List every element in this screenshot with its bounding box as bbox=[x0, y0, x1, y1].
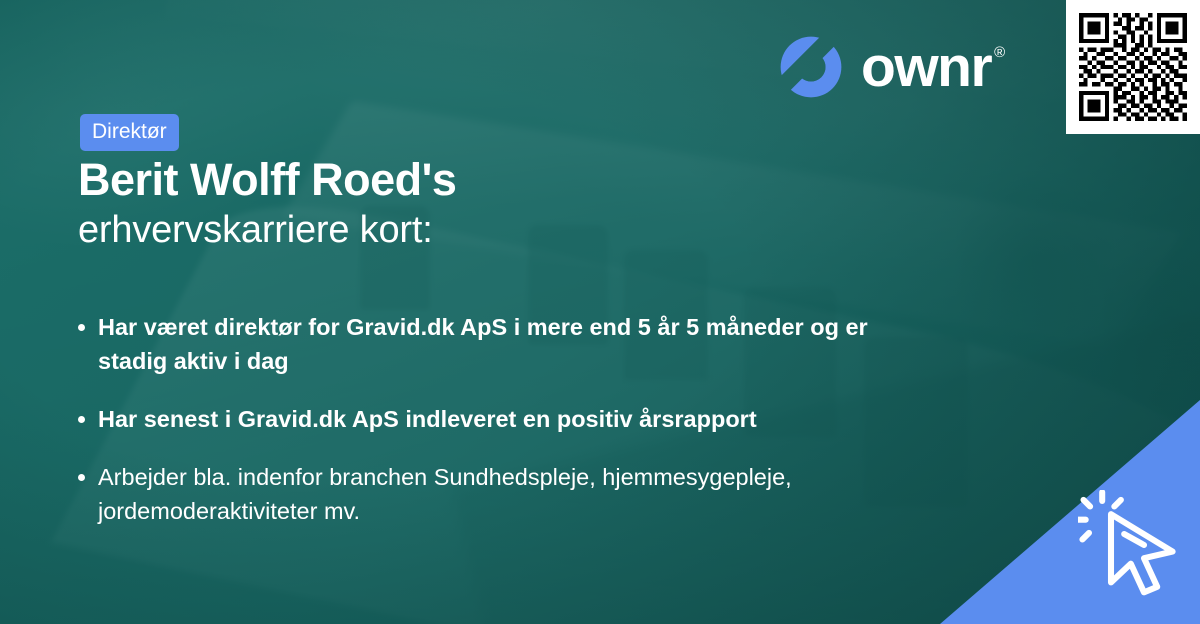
headline: Berit Wolff Roed's erhvervskarriere kort… bbox=[78, 156, 978, 255]
bullet-dot-icon bbox=[78, 416, 85, 423]
ownr-logo: ownr ® bbox=[778, 34, 1005, 100]
person-name: Berit Wolff Roed's bbox=[78, 156, 978, 203]
click-cursor-icon bbox=[1078, 490, 1188, 600]
role-badge: Direktør bbox=[80, 114, 179, 151]
bullet-dot-icon bbox=[78, 474, 85, 481]
ownr-wordmark-text: ownr bbox=[861, 39, 991, 96]
career-bullet-list: Har været direktør for Gravid.dk ApS i m… bbox=[78, 310, 978, 528]
list-item-text: Har senest i Gravid.dk ApS indleveret en… bbox=[98, 402, 898, 436]
career-card: ownr ® Direktør Berit Wolff Roed's erhve… bbox=[0, 0, 1200, 624]
bullet-dot-icon bbox=[78, 324, 85, 331]
registered-trademark-icon: ® bbox=[994, 45, 1005, 60]
headline-subtitle: erhvervskarriere kort: bbox=[78, 207, 978, 255]
list-item: Har været direktør for Gravid.dk ApS i m… bbox=[78, 310, 978, 378]
list-item: Har senest i Gravid.dk ApS indleveret en… bbox=[78, 402, 978, 436]
ownr-circle-mark bbox=[778, 34, 844, 100]
qr-code[interactable] bbox=[1079, 13, 1187, 121]
list-item: Arbejder bla. indenfor branchen Sundheds… bbox=[78, 460, 978, 528]
ownr-wordmark: ownr ® bbox=[861, 39, 1005, 96]
list-item-text: Arbejder bla. indenfor branchen Sundheds… bbox=[98, 460, 898, 528]
list-item-text: Har været direktør for Gravid.dk ApS i m… bbox=[98, 310, 898, 378]
qr-code-panel[interactable] bbox=[1066, 0, 1200, 134]
